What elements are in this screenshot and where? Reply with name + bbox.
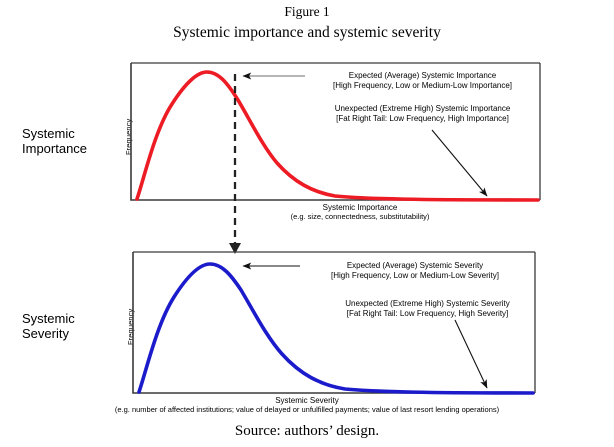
mode-connector-arrowhead (229, 243, 241, 254)
top-annotation-unexpected-line2: [Fat Right Tail: Low Frequency, High Imp… (305, 114, 540, 124)
top-annotation-unexpected: Unexpected (Extreme High) Systemic Impor… (305, 104, 540, 123)
y-axis-title-top: Frequency (124, 119, 133, 155)
figure-graphics (0, 0, 614, 447)
top-distribution-curve (137, 72, 538, 200)
top-x-axis-title: Systemic Importance (240, 203, 480, 212)
top-x-axis-caption: Systemic Importance (e.g. size, connecte… (240, 203, 480, 221)
bottom-annotation-unexpected-line2: [Fat Right Tail: Low Frequency, High Sev… (320, 309, 535, 319)
panel-label-systemic-severity: Systemic Severity (22, 311, 75, 341)
figure-number: Figure 1 (0, 4, 614, 20)
bottom-x-axis-subtitle: (e.g. number of affected institutions; v… (7, 405, 607, 414)
top-fat-tail-leader-line (432, 130, 487, 196)
top-annotation-expected-line1: Expected (Average) Systemic Importance (305, 71, 540, 81)
bottom-annotation-expected-line1: Expected (Average) Systemic Severity (300, 261, 530, 271)
bottom-annotation-expected-line2: [High Frequency, Low or Medium-Low Sever… (300, 271, 530, 281)
bottom-x-axis-title: Systemic Severity (7, 396, 607, 405)
figure-source: Source: authors’ design. (0, 423, 614, 440)
bottom-annotation-expected: Expected (Average) Systemic Severity [Hi… (300, 261, 530, 280)
y-axis-title-bottom: Frequency (126, 309, 135, 345)
bottom-annotation-unexpected-line1: Unexpected (Extreme High) Systemic Sever… (320, 299, 535, 309)
bottom-x-axis-caption: Systemic Severity (e.g. number of affect… (7, 396, 607, 414)
top-annotation-expected: Expected (Average) Systemic Importance [… (305, 71, 540, 90)
top-annotation-unexpected-line1: Unexpected (Extreme High) Systemic Impor… (305, 104, 540, 114)
figure-container: Figure 1 Systemic importance and systemi… (0, 0, 614, 447)
top-annotation-expected-line2: [High Frequency, Low or Medium-Low Impor… (305, 81, 540, 91)
bottom-annotation-unexpected: Unexpected (Extreme High) Systemic Sever… (320, 299, 535, 318)
top-x-axis-subtitle: (e.g. size, connectedness, substitutabil… (240, 212, 480, 221)
figure-title: Systemic importance and systemic severit… (0, 24, 614, 42)
panel-label-systemic-importance: Systemic Importance (22, 126, 87, 156)
bottom-distribution-curve (139, 264, 533, 393)
bottom-fat-tail-leader-line (455, 320, 487, 388)
